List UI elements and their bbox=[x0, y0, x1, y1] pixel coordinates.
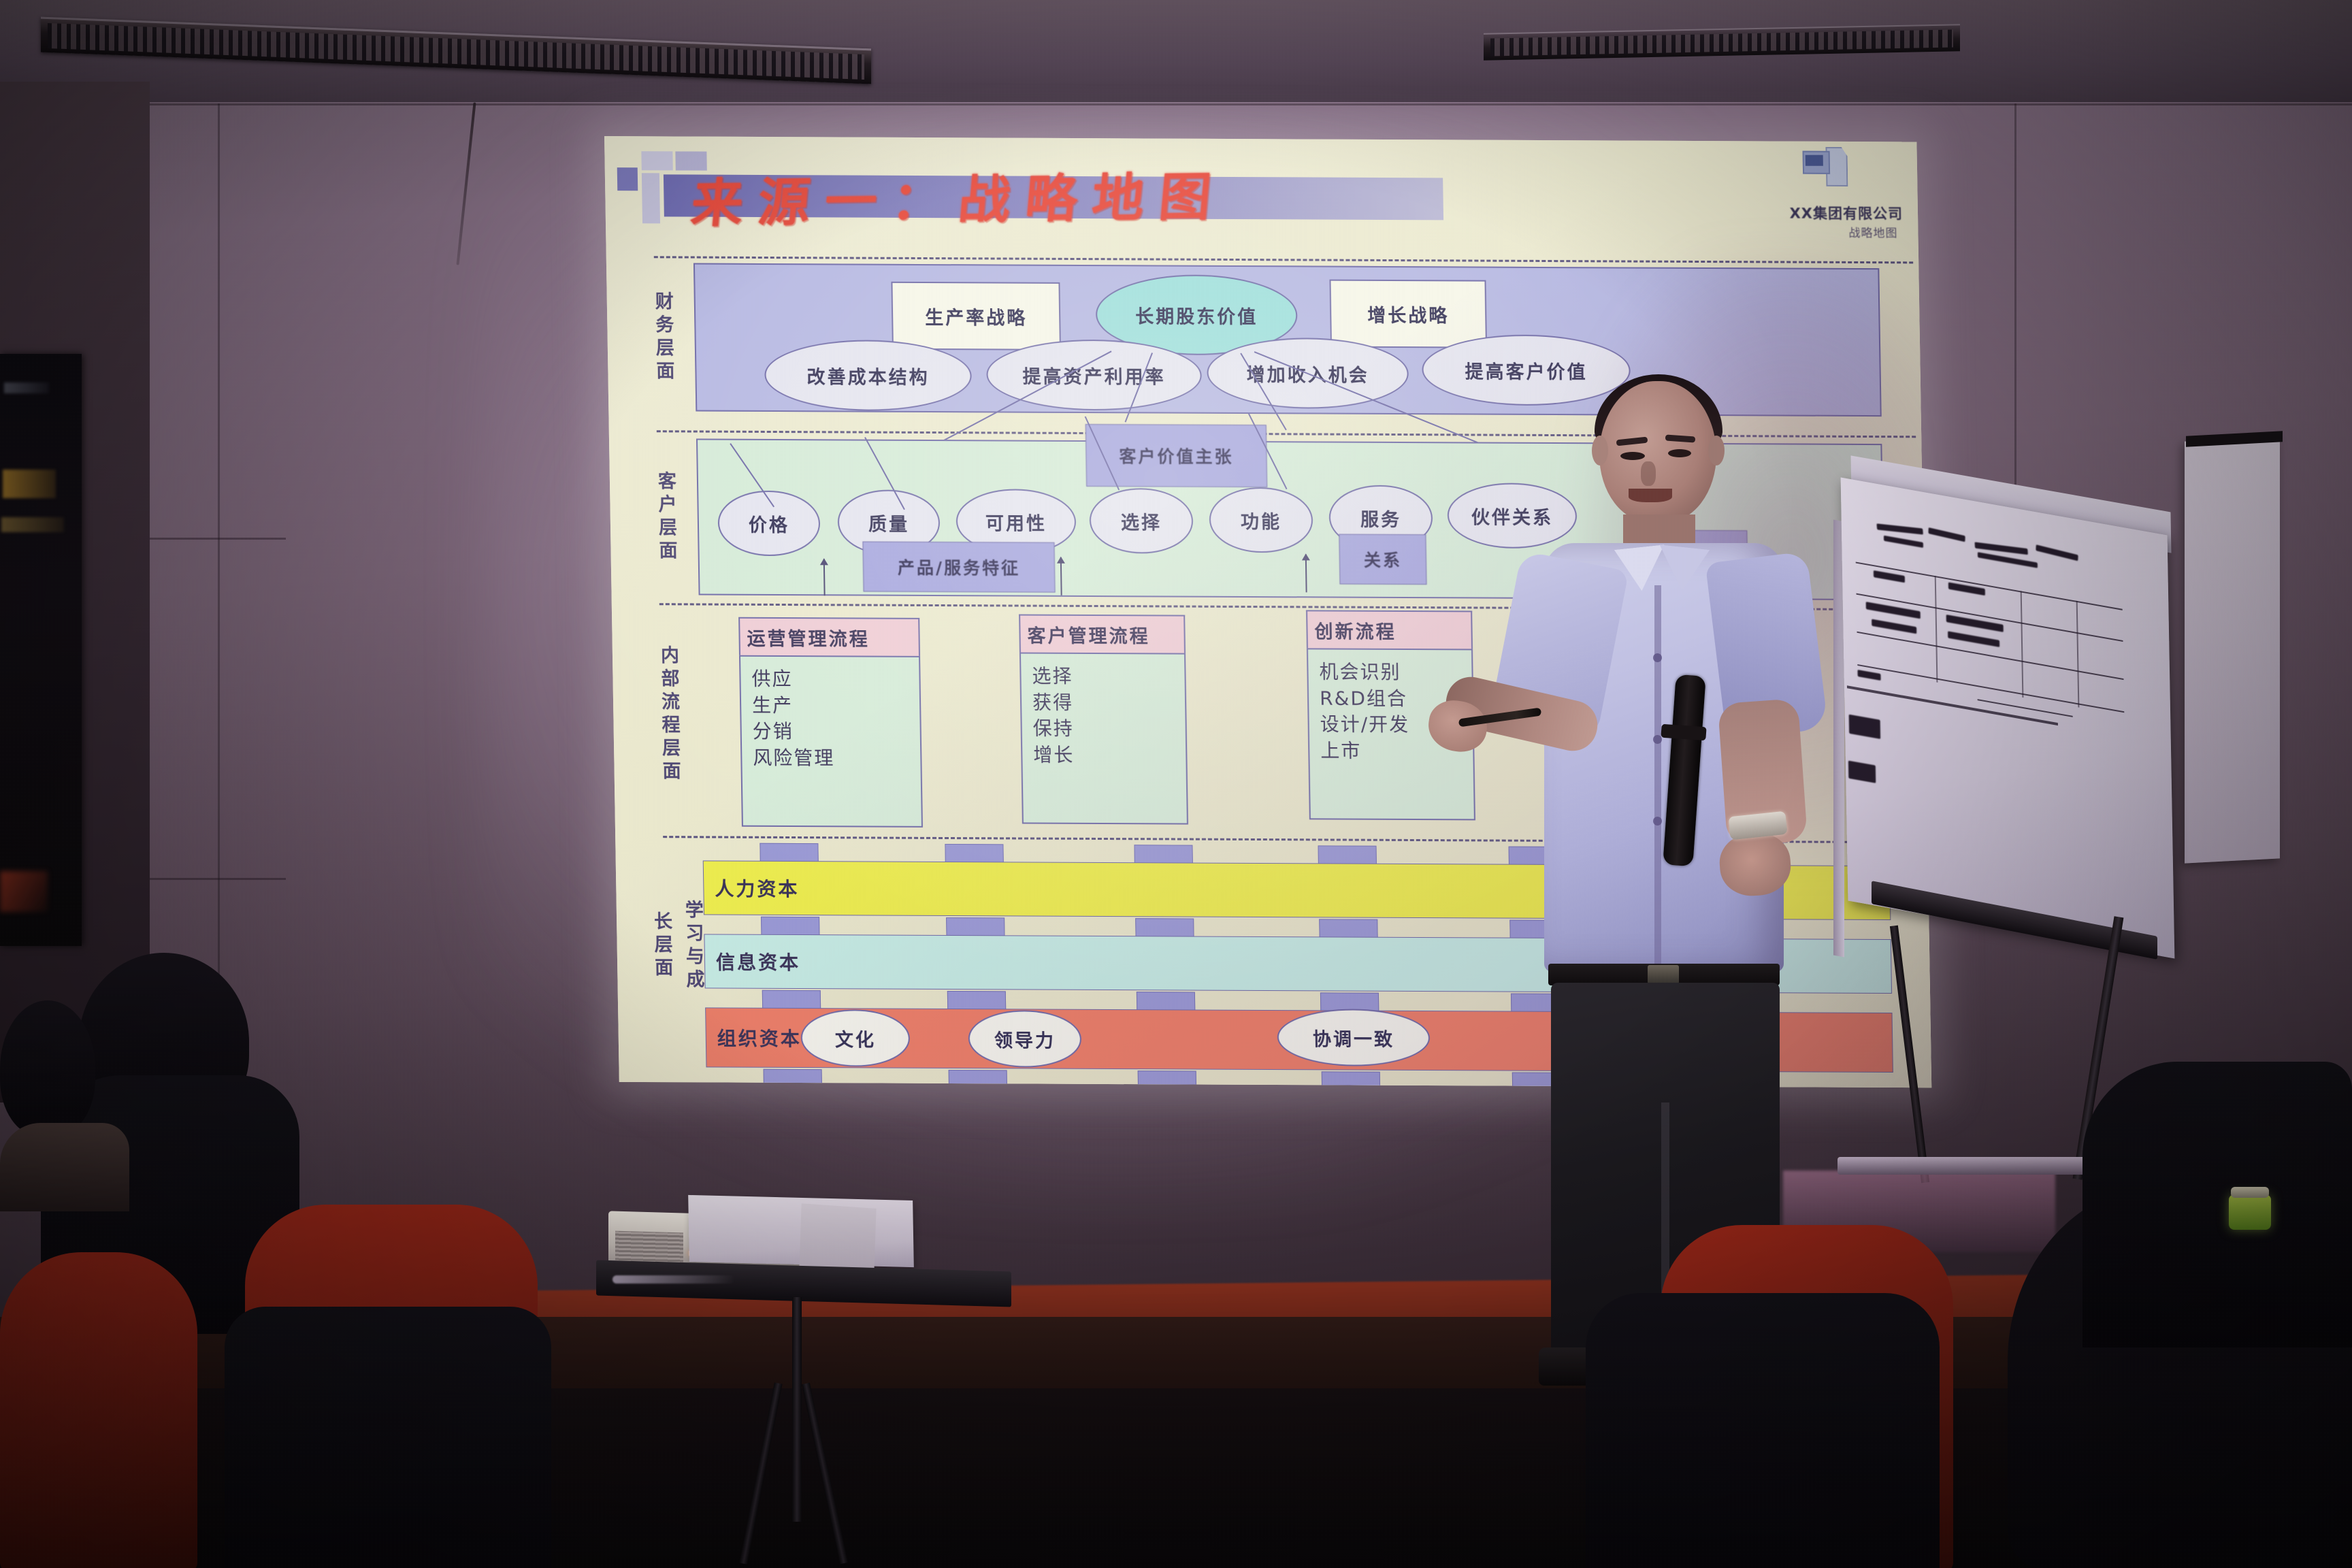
audience-person bbox=[225, 1307, 551, 1568]
whiteboard bbox=[2185, 436, 2280, 863]
company-subtitle: 战略地图 bbox=[1848, 223, 1897, 240]
projector-stand bbox=[596, 1157, 1032, 1565]
belt-buckle bbox=[1648, 965, 1679, 984]
tripod-column bbox=[792, 1297, 802, 1522]
paper-stack bbox=[799, 1203, 876, 1274]
banner-accent bbox=[0, 871, 48, 912]
audience-hand bbox=[0, 1123, 129, 1211]
mouth bbox=[1629, 489, 1672, 502]
conference-room-scene: 来源一：战略地图 XX集团有限公司 战略地图 财务层面 生产率战略 长期股东价值… bbox=[0, 0, 2352, 1568]
process-item: 供应 bbox=[751, 666, 919, 693]
layer-label-financial: 财务层面 bbox=[649, 269, 677, 406]
flipchart-leg bbox=[1890, 926, 1929, 1183]
customer-ellipse-functionality: 功能 bbox=[1209, 487, 1313, 553]
process-item: 机会识别 bbox=[1319, 659, 1472, 686]
banner-text-glow bbox=[3, 470, 56, 498]
title-decoration bbox=[642, 173, 660, 223]
nose bbox=[1641, 461, 1656, 486]
arrow-up bbox=[1060, 557, 1062, 595]
process-column-header: 创新流程 bbox=[1306, 610, 1473, 649]
shirt-button bbox=[1653, 735, 1662, 744]
process-item: 增长 bbox=[1033, 742, 1186, 769]
title-decoration bbox=[617, 167, 638, 191]
company-name: XX集团有限公司 bbox=[1789, 203, 1903, 224]
financial-box-productivity: 生产率战略 bbox=[891, 282, 1061, 350]
layer-label-customer: 客户层面 bbox=[651, 449, 680, 585]
shirt-placket bbox=[1654, 585, 1661, 966]
drink-can-lid bbox=[2231, 1187, 2269, 1198]
customer-ellipse-selection: 选择 bbox=[1089, 488, 1194, 554]
org-ellipse-leadership: 领导力 bbox=[968, 1010, 1081, 1068]
process-item: 风险管理 bbox=[753, 745, 921, 772]
process-column-header: 客户管理流程 bbox=[1019, 615, 1186, 653]
tripod-leg bbox=[739, 1382, 782, 1564]
process-item: 保持 bbox=[1032, 716, 1186, 743]
process-column-items: 供应 生产 分销 风险管理 bbox=[739, 655, 923, 828]
financial-box-growth: 增长战略 bbox=[1329, 280, 1487, 348]
wall-seam bbox=[218, 103, 220, 1104]
wall-seam bbox=[0, 103, 2352, 105]
process-column-items: 选择 获得 保持 增长 bbox=[1019, 653, 1188, 825]
projector-vent bbox=[615, 1231, 683, 1264]
layer-label-internal-process: 内部流程层面 bbox=[654, 612, 684, 817]
document-icon bbox=[1802, 147, 1849, 191]
wall-banner bbox=[0, 354, 82, 946]
shirt-button bbox=[1653, 653, 1662, 662]
process-item: 获得 bbox=[1032, 689, 1186, 717]
process-item: 分销 bbox=[752, 719, 920, 746]
title-decoration bbox=[641, 151, 672, 170]
drink-can[interactable] bbox=[2229, 1194, 2271, 1230]
layer-label-learning-b: 长层面 bbox=[647, 878, 676, 1014]
process-item: 选择 bbox=[1032, 664, 1185, 691]
ear bbox=[1592, 436, 1608, 465]
eye bbox=[1620, 452, 1645, 460]
audience-person bbox=[1586, 1293, 1940, 1568]
tripod-leg bbox=[802, 1383, 848, 1565]
customer-group-relationship: 关系 bbox=[1339, 534, 1426, 585]
customer-group-product-service: 产品/服务特征 bbox=[862, 542, 1055, 593]
process-item: 生产 bbox=[752, 692, 920, 719]
wall-seam bbox=[2014, 103, 2016, 512]
process-column-header: 运营管理流程 bbox=[738, 617, 920, 656]
process-column-operations: 运营管理流程 供应 生产 分销 风险管理 bbox=[738, 617, 923, 828]
org-ellipse-culture: 文化 bbox=[800, 1009, 910, 1067]
banner-text-glow bbox=[4, 382, 49, 393]
arrow-up bbox=[823, 559, 826, 595]
process-column-customer: 客户管理流程 选择 获得 保持 增长 bbox=[1019, 615, 1188, 825]
audience-chair bbox=[0, 1252, 197, 1568]
slide-title: 来源一：战略地图 bbox=[689, 152, 1377, 236]
banner-text-glow bbox=[1, 517, 64, 532]
audience-person bbox=[2082, 1062, 2352, 1347]
arrow-up bbox=[1305, 554, 1307, 592]
audience-head bbox=[0, 1000, 95, 1137]
ear bbox=[1708, 436, 1725, 465]
table-highlight bbox=[612, 1275, 735, 1284]
tripod-table-top bbox=[596, 1260, 1011, 1307]
eye bbox=[1668, 449, 1691, 457]
shirt-button bbox=[1653, 817, 1662, 826]
